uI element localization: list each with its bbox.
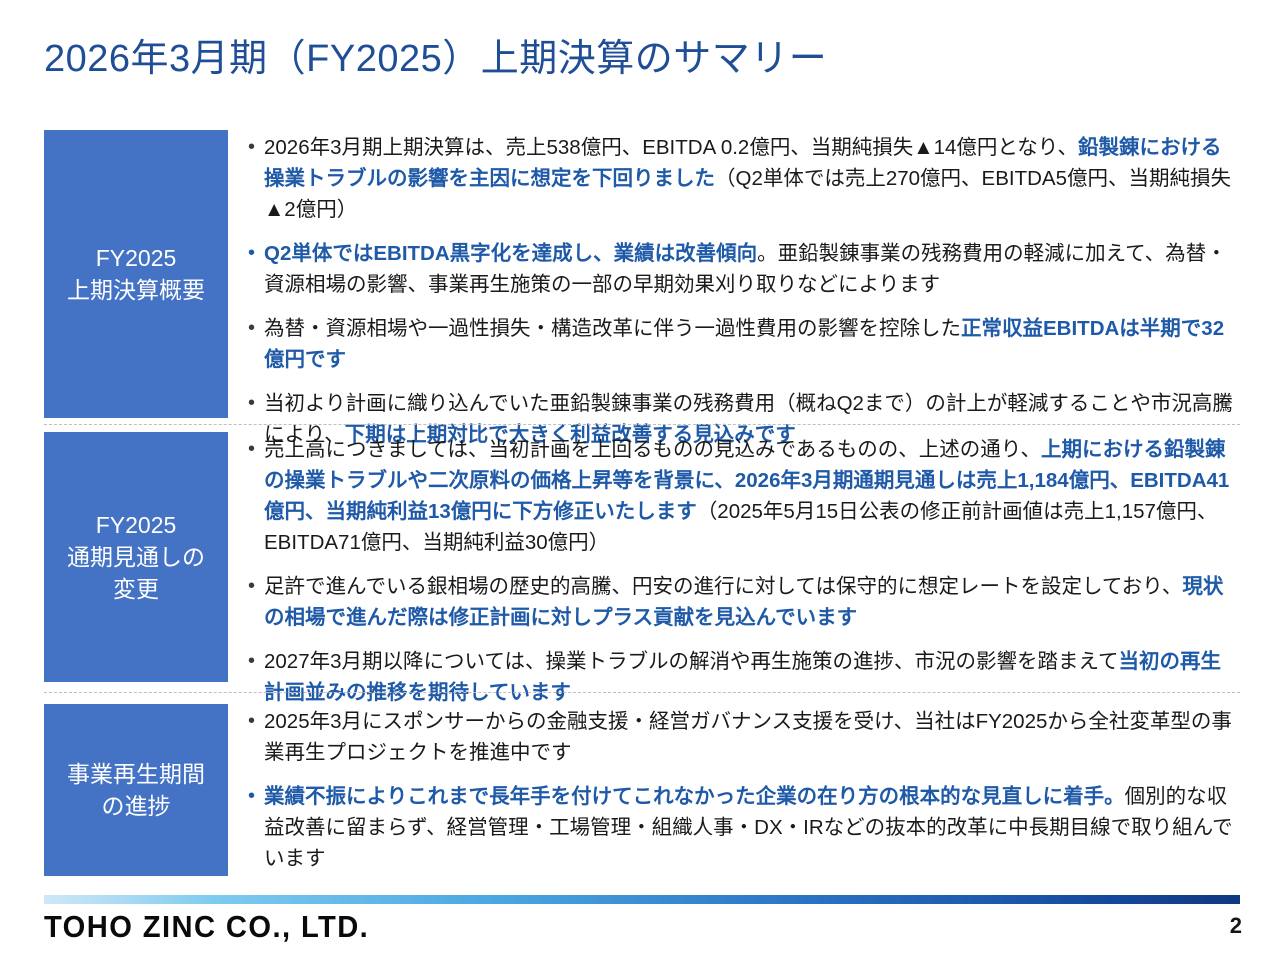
page-title: 2026年3月期（FY2025）上期決算のサマリー xyxy=(44,36,827,82)
bullet-item: • Q2単体ではEBITDA黒字化を達成し、業績は改善傾向。亜鉛製錬事業の残務費… xyxy=(244,238,1240,300)
bullet-marker-icon: • xyxy=(244,571,264,602)
bullet-marker-icon: • xyxy=(244,132,264,163)
bullet-text: Q2単体ではEBITDA黒字化を達成し、業績は改善傾向。亜鉛製錬事業の残務費用の… xyxy=(264,238,1240,300)
section-label-line: の進捗 xyxy=(102,790,171,822)
section-bullet-list: • 2026年3月期上期決算は、売上538億円、EBITDA 0.2億円、当期純… xyxy=(228,130,1240,418)
section-business-revitalization-progress: 事業再生期間 の進捗 • 2025年3月にスポンサーからの金融支援・経営ガバナン… xyxy=(44,704,1240,876)
bullet-marker-icon: • xyxy=(244,646,264,677)
bullet-item: • 2026年3月期上期決算は、売上538億円、EBITDA 0.2億円、当期純… xyxy=(244,132,1240,225)
bullet-marker-icon: • xyxy=(244,434,264,465)
bullet-text: 2026年3月期上期決算は、売上538億円、EBITDA 0.2億円、当期純損失… xyxy=(264,132,1240,225)
section-label-line: FY2025 xyxy=(96,242,177,274)
section-divider xyxy=(44,692,1240,693)
presentation-slide: 2026年3月期（FY2025）上期決算のサマリー FY2025 上期決算概要 … xyxy=(0,0,1280,960)
section-fy2025-full-year-forecast-revision: FY2025 通期見通しの 変更 • 売上高につきましては、当初計画を上回るもの… xyxy=(44,432,1240,682)
footer-gradient-bar xyxy=(44,895,1240,904)
bullet-text: 2027年3月期以降については、操業トラブルの解消や再生施策の進捗、市況の影響を… xyxy=(264,646,1240,708)
section-bullet-list: • 売上高につきましては、当初計画を上回るものの見込みであるものの、上述の通り、… xyxy=(228,432,1240,682)
section-label-line: 通期見通しの xyxy=(67,541,205,573)
section-label-box: 事業再生期間 の進捗 xyxy=(44,704,228,876)
section-label-line: FY2025 xyxy=(96,509,177,541)
bullet-marker-icon: • xyxy=(244,706,264,737)
bullet-text: 為替・資源相場や一過性損失・構造改革に伴う一過性費用の影響を控除した正常収益EB… xyxy=(264,313,1240,375)
section-bullet-list: • 2025年3月にスポンサーからの金融支援・経営ガバナンス支援を受け、当社はF… xyxy=(228,704,1240,876)
bullet-text: 2025年3月にスポンサーからの金融支援・経営ガバナンス支援を受け、当社はFY2… xyxy=(264,706,1240,768)
section-label-line: 上期決算概要 xyxy=(67,274,205,306)
section-divider xyxy=(44,424,1240,425)
bullet-item: • 2025年3月にスポンサーからの金融支援・経営ガバナンス支援を受け、当社はF… xyxy=(244,706,1240,768)
bullet-item: • 業績不振によりこれまで長年手を付けてこれなかった企業の在り方の根本的な見直し… xyxy=(244,781,1240,874)
bullet-marker-icon: • xyxy=(244,388,264,419)
bullet-item: • 2027年3月期以降については、操業トラブルの解消や再生施策の進捗、市況の影… xyxy=(244,646,1240,708)
section-label-box: FY2025 上期決算概要 xyxy=(44,130,228,418)
bullet-item: • 足許で進んでいる銀相場の歴史的高騰、円安の進行に対しては保守的に想定レートを… xyxy=(244,571,1240,633)
section-label-line: 変更 xyxy=(113,573,159,605)
bullet-text: 売上高につきましては、当初計画を上回るものの見込みであるものの、上述の通り、上期… xyxy=(264,434,1240,558)
page-number: 2 xyxy=(1230,912,1242,940)
bullet-text: 足許で進んでいる銀相場の歴史的高騰、円安の進行に対しては保守的に想定レートを設定… xyxy=(264,571,1240,633)
bullet-marker-icon: • xyxy=(244,781,264,812)
bullet-marker-icon: • xyxy=(244,238,264,269)
bullet-text: 業績不振によりこれまで長年手を付けてこれなかった企業の在り方の根本的な見直しに着… xyxy=(264,781,1240,874)
section-label-line: 事業再生期間 xyxy=(67,758,205,790)
bullet-item: • 為替・資源相場や一過性損失・構造改革に伴う一過性費用の影響を控除した正常収益… xyxy=(244,313,1240,375)
section-label-box: FY2025 通期見通しの 変更 xyxy=(44,432,228,682)
company-logo: TOHO ZINC CO., LTD. xyxy=(44,909,369,945)
bullet-marker-icon: • xyxy=(244,313,264,344)
section-fy2025-first-half-results: FY2025 上期決算概要 • 2026年3月期上期決算は、売上538億円、EB… xyxy=(44,130,1240,418)
bullet-item: • 売上高につきましては、当初計画を上回るものの見込みであるものの、上述の通り、… xyxy=(244,434,1240,558)
